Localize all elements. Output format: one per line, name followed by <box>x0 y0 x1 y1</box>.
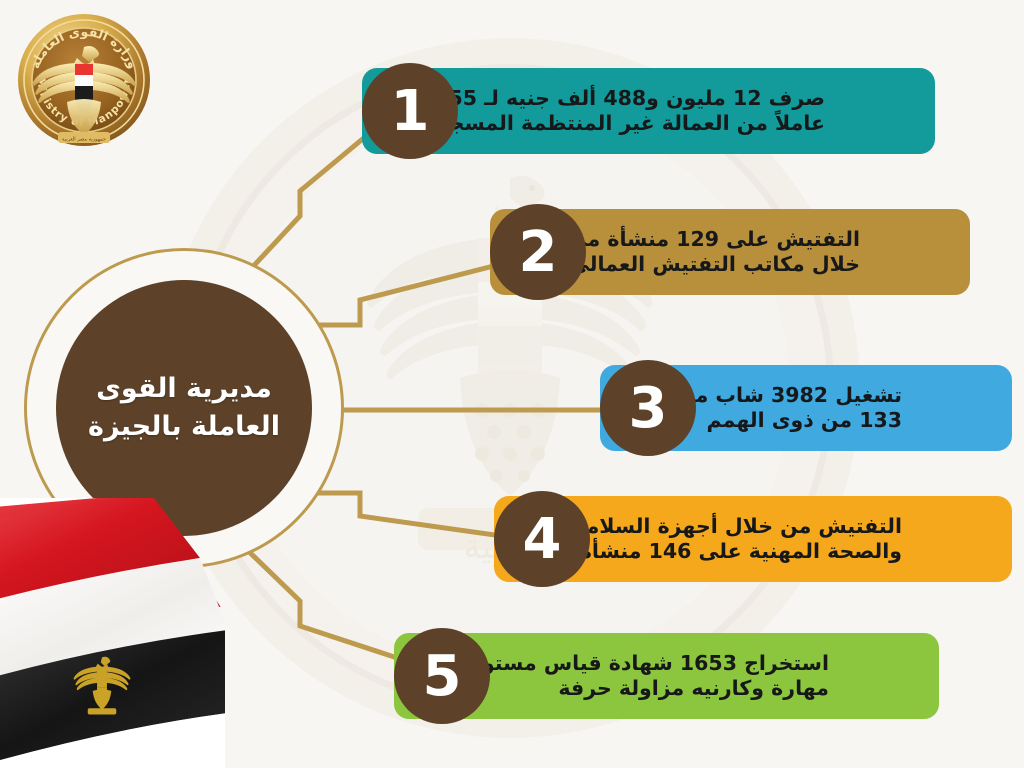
item-number-badge[interactable]: 5 <box>394 628 490 724</box>
svg-text:جمهورية مصر العربية: جمهورية مصر العربية <box>62 137 106 143</box>
item-number-badge[interactable]: 3 <box>600 360 696 456</box>
infographic-canvas: العربية مديرية القوى العاملة بالجيزة صرف… <box>0 0 1024 768</box>
center-hub: مديرية القوى العاملة بالجيزة <box>24 248 344 568</box>
item-number-badge[interactable]: 1 <box>362 63 458 159</box>
center-hub-disc: مديرية القوى العاملة بالجيزة <box>56 280 312 536</box>
ministry-logo: وزارة القوى العاملة Ministry of Manpower <box>14 10 154 150</box>
item-number-badge[interactable]: 2 <box>490 204 586 300</box>
center-hub-title: مديرية القوى العاملة بالجيزة <box>56 370 312 447</box>
item-number-badge[interactable]: 4 <box>494 491 590 587</box>
